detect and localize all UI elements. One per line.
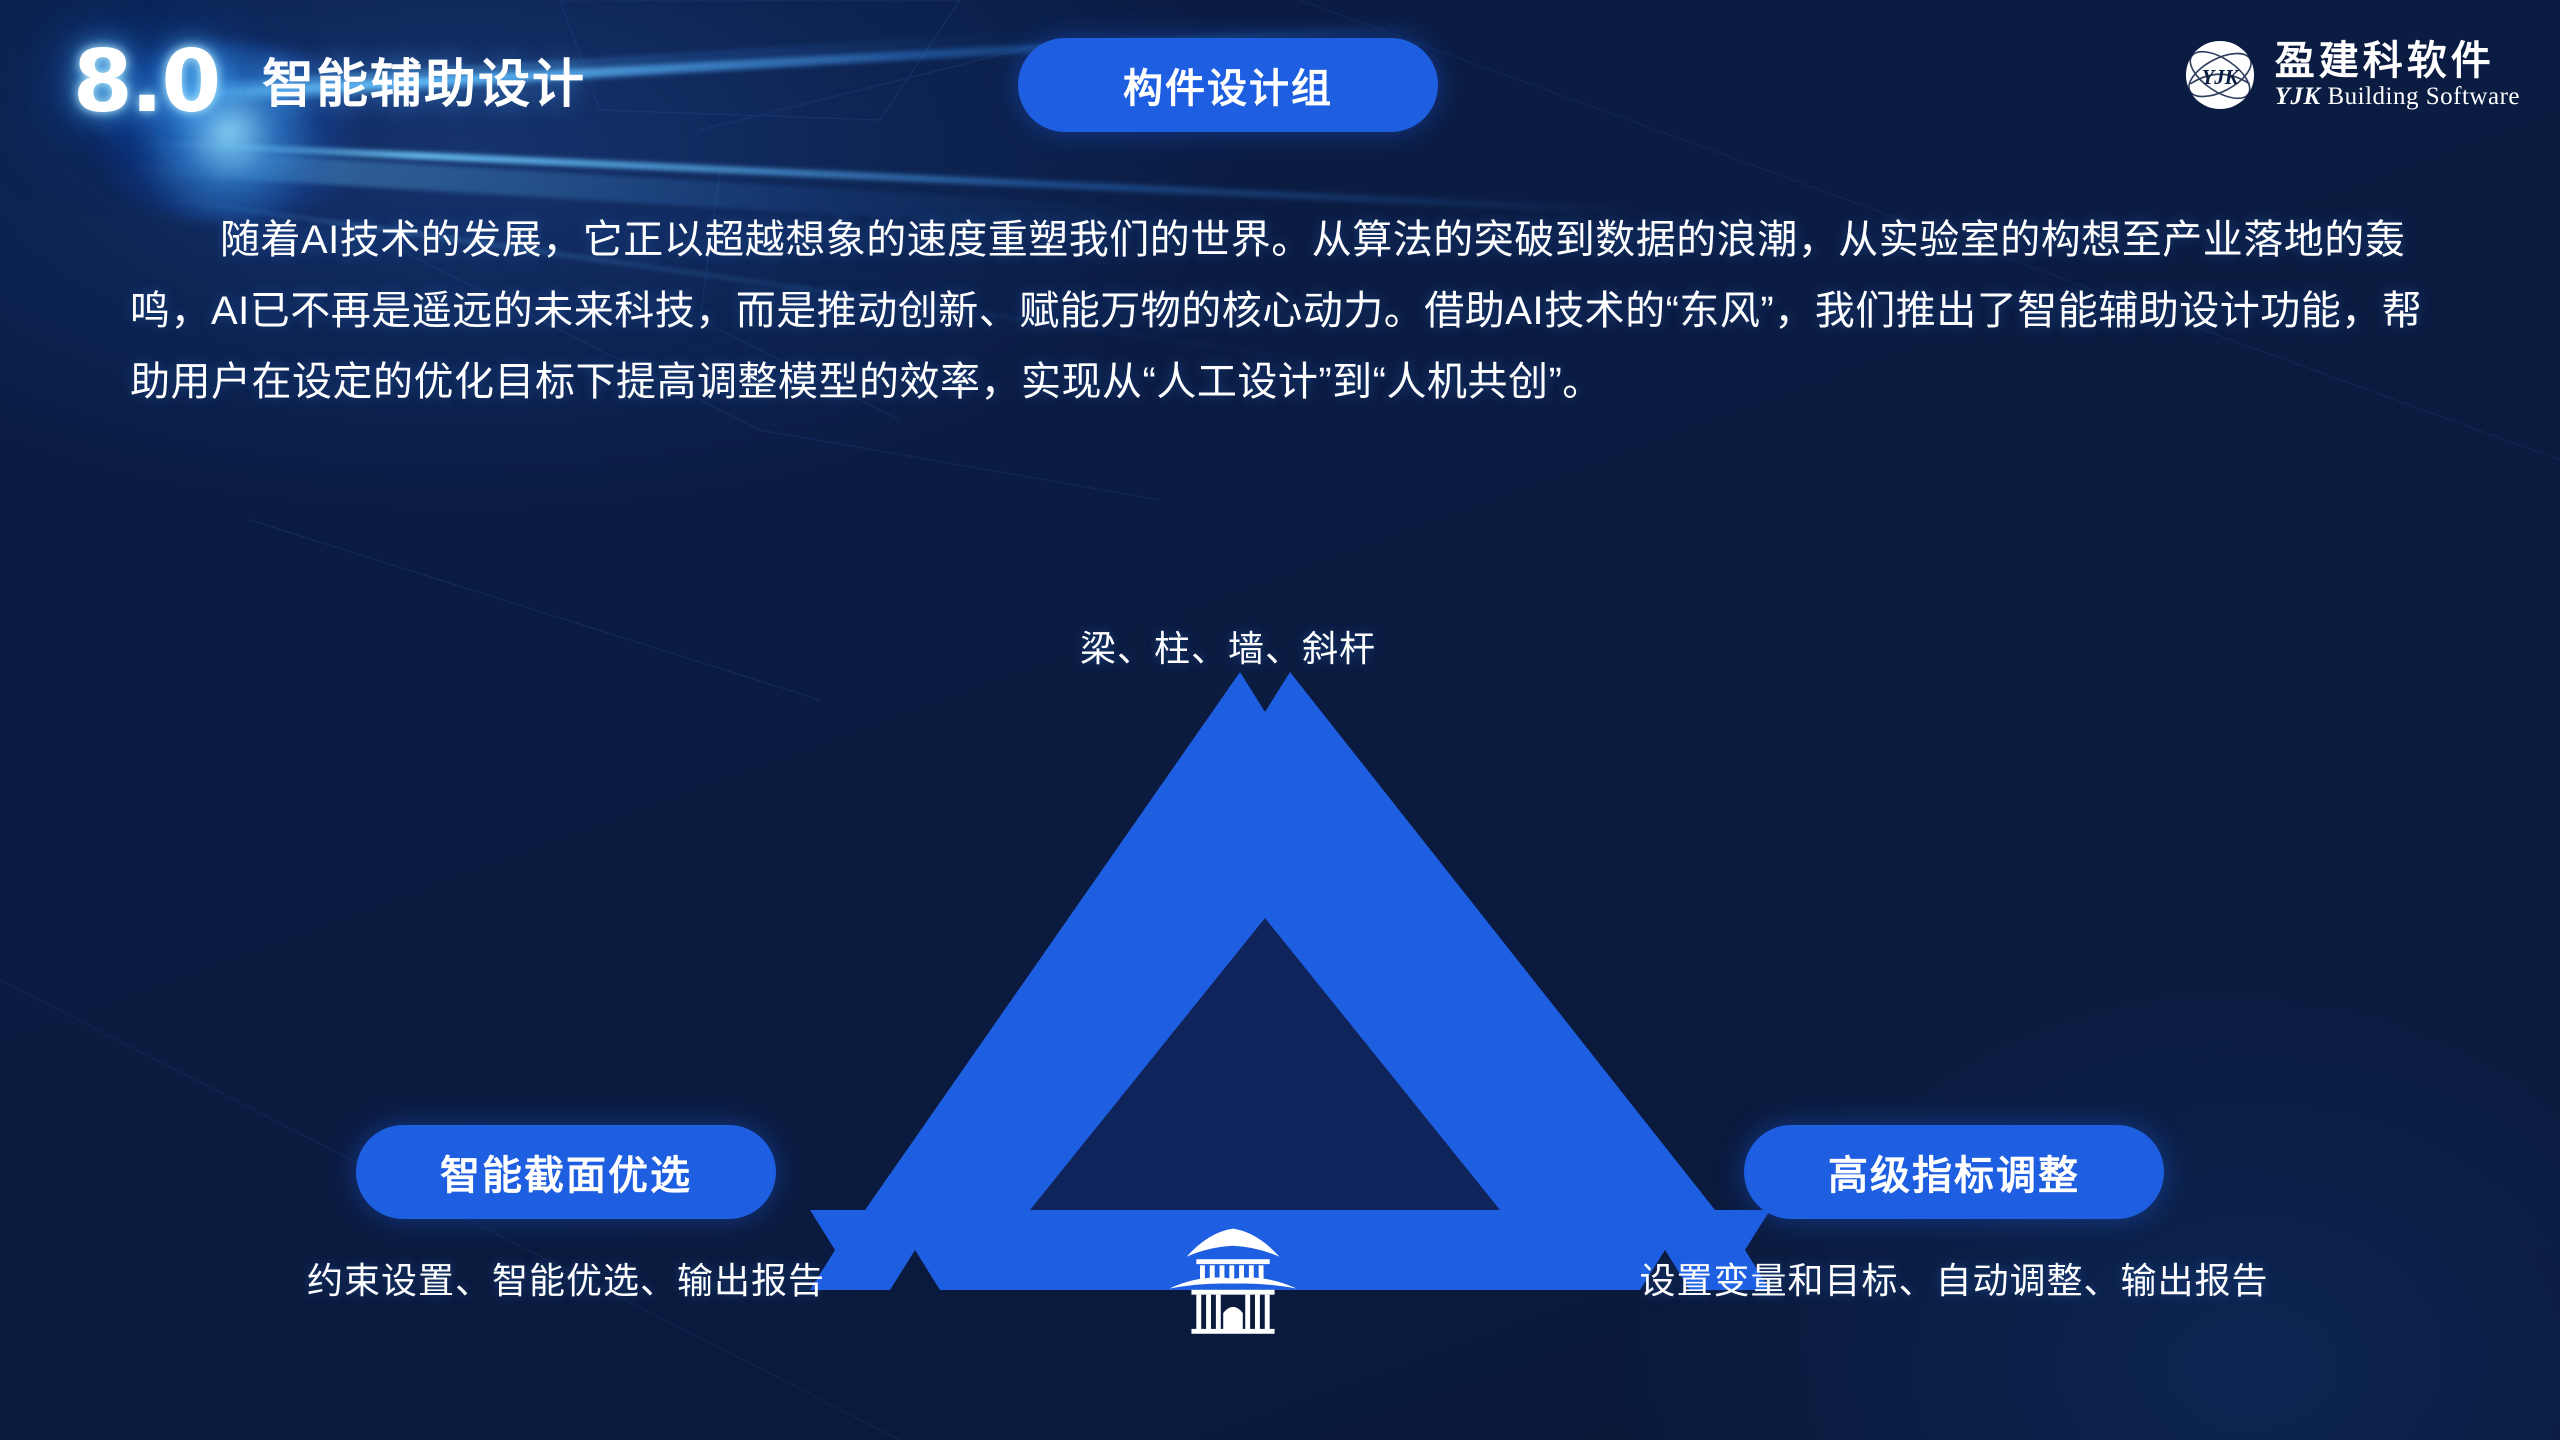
page-title: 智能辅助设计 (262, 42, 586, 117)
node-left-label: 智能截面优选 (440, 1143, 692, 1201)
node-top-button[interactable]: 构件设计组 (1018, 38, 1438, 132)
node-top-caption: 梁、柱、墙、斜杆 (1018, 620, 1438, 672)
node-right-button[interactable]: 高级指标调整 (1744, 1125, 2164, 1219)
brand-name-en-rest: Building Software (2327, 83, 2520, 110)
version-badge: 8.0 (46, 22, 246, 142)
brand-name-en: YJK Building Software (2275, 84, 2520, 110)
node-left-caption: 约束设置、智能优选、输出报告 (236, 1252, 896, 1304)
intro-paragraph: 随着AI技术的发展，它正以超越想象的速度重塑我们的世界。从算法的突破到数据的浪潮… (130, 205, 2430, 418)
brand-name-cn: 盈建科软件 (2275, 40, 2520, 82)
three-core-functions-diagram: 三大核心功能 (0, 470, 2560, 1350)
node-left-button[interactable]: 智能截面优选 (356, 1125, 776, 1219)
yjk-globe-icon: YJK (2183, 38, 2257, 112)
chinese-gate-icon (1158, 1225, 1308, 1335)
version-badge-label: 8.0 (73, 32, 219, 132)
node-top-label: 构件设计组 (1123, 56, 1333, 114)
brand-name-en-abbr: YJK (2275, 83, 2321, 110)
brand-logo: YJK 盈建科软件 YJK Building Software (2183, 38, 2520, 112)
svg-text:YJK: YJK (2201, 67, 2239, 89)
node-right-label: 高级指标调整 (1828, 1143, 2080, 1201)
node-right-caption: 设置变量和目标、自动调整、输出报告 (1624, 1252, 2284, 1304)
intro-paragraph-block: 随着AI技术的发展，它正以超越想象的速度重塑我们的世界。从算法的突破到数据的浪潮… (130, 205, 2430, 418)
